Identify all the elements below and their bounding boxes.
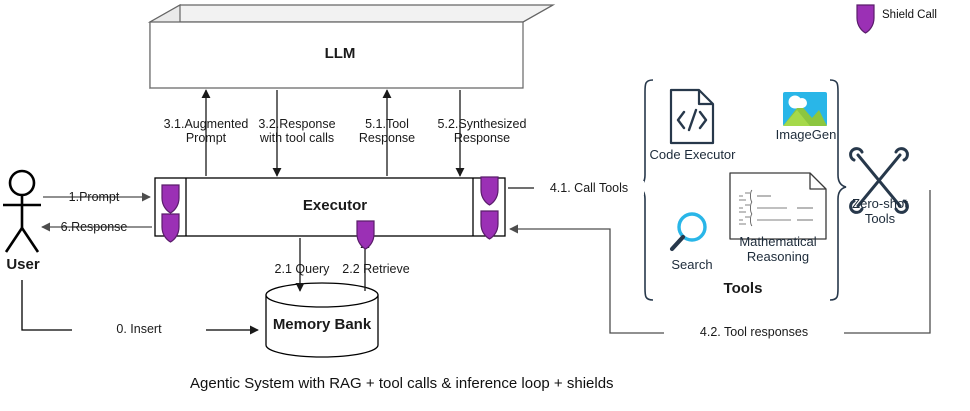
user-stick-figure <box>3 171 41 252</box>
edge-label-prompt: 1.Prompt <box>42 190 146 204</box>
magnifier-icon <box>672 214 705 249</box>
edge-label-response: 6.Response <box>42 220 146 234</box>
llm-label: LLM <box>300 47 380 61</box>
code-file-icon <box>671 90 713 143</box>
edge-label-insert: 0. Insert <box>72 322 206 336</box>
image-icon <box>783 92 827 126</box>
tool-label-code-executor: Code Executor <box>645 147 740 162</box>
tool-label-zero-shot-tools: Zero-shot Tools <box>838 196 922 226</box>
edge-label-tool-responses: 4.2. Tool responses <box>664 325 844 339</box>
shield-icon-center-bottom <box>357 221 374 249</box>
edge-label-retrieve: 2.2 Retrieve <box>330 262 422 276</box>
edge-label-call-tools: 4.1. Call Tools <box>534 181 644 195</box>
shield-icon-legend <box>857 5 874 33</box>
legend-label: Shield Call <box>882 9 937 21</box>
math-document-icon <box>730 173 826 239</box>
memory-bank-label: Memory Bank <box>272 318 372 332</box>
executor-label: Executor <box>290 199 380 213</box>
tools-brace-right <box>830 80 846 300</box>
tool-label-imagegen: ImageGen <box>765 127 847 142</box>
tools-group-label: Tools <box>703 282 783 296</box>
tool-label-search: Search <box>660 257 724 272</box>
user-label: User <box>0 258 46 272</box>
diagram-caption: Agentic System with RAG + tool calls & i… <box>190 375 614 392</box>
diagram-canvas: LLM Executor User Memory Bank Tools 1.Pr… <box>0 0 970 411</box>
shield-icon-left-bottom <box>162 214 179 242</box>
diagram-svg <box>0 0 970 411</box>
tool-label-mathematical-reasoning: Mathematical Reasoning <box>723 234 833 264</box>
edge-label-synthesized-response: 5.2.Synthesized Response <box>418 117 546 145</box>
